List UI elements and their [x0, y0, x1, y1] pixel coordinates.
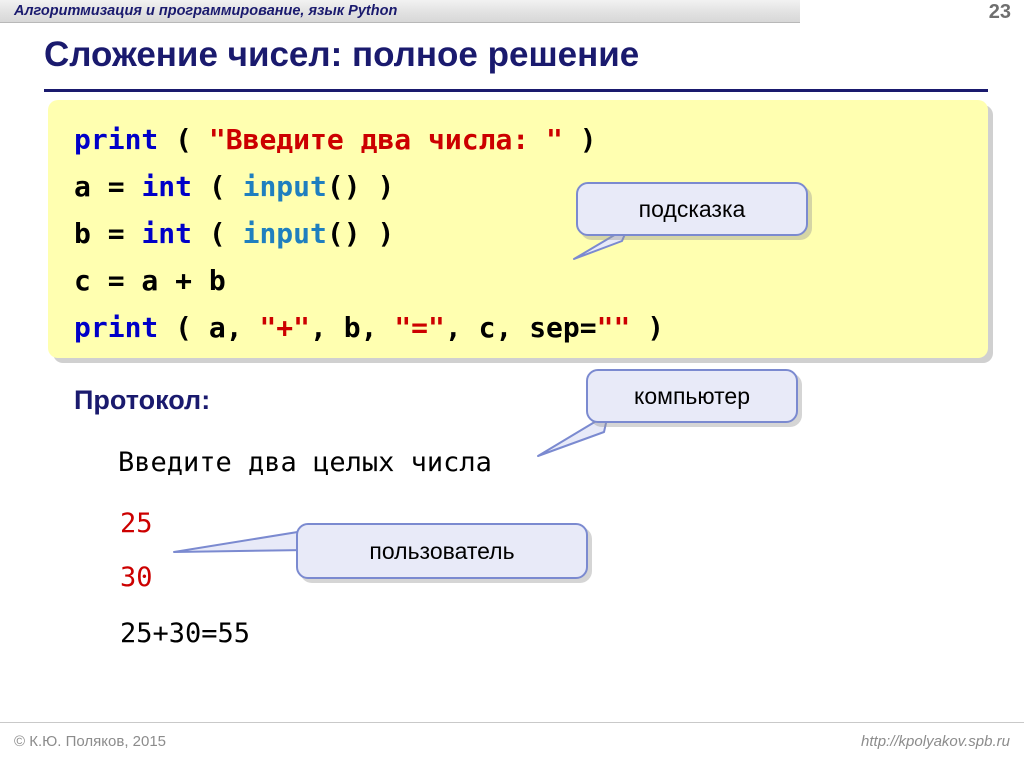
code-token: a = — [74, 170, 141, 203]
footer-copyright: © К.Ю. Поляков, 2015 — [14, 733, 166, 750]
code-token: print — [74, 311, 158, 344]
code-token: "=" — [394, 311, 445, 344]
header-title: Алгоритмизация и программирование, язык … — [14, 3, 397, 19]
footer-url[interactable]: http://kpolyakov.spb.ru — [861, 733, 1010, 750]
code-token: "Введите два числа: " — [209, 123, 563, 156]
code-line: print ( "Введите два числа: " ) — [74, 116, 664, 163]
protocol-result-line: 25+30=55 — [120, 618, 250, 649]
callout-computer: компьютер — [586, 369, 798, 423]
protocol-computer-line: Введите два целых числа — [118, 447, 492, 478]
code-token: int — [141, 217, 192, 250]
code-token: int — [141, 170, 192, 203]
page-title: Сложение чисел: полное решение — [44, 35, 639, 75]
code-token: ( a, — [158, 311, 259, 344]
code-token: "" — [597, 311, 631, 344]
code-token: ) — [563, 123, 597, 156]
code-token: input — [243, 170, 327, 203]
code-token: ( — [158, 123, 209, 156]
code-token: print — [74, 123, 158, 156]
code-token: ( — [192, 217, 243, 250]
code-token: , b, — [310, 311, 394, 344]
code-token: () ) — [327, 170, 394, 203]
protocol-label: Протокол: — [74, 385, 210, 416]
code-token: ( — [192, 170, 243, 203]
code-token: "+" — [259, 311, 310, 344]
code-token: input — [243, 217, 327, 250]
code-token: c = a + b — [74, 264, 226, 297]
slide-number: 23 — [989, 1, 1011, 24]
protocol-user-input-1: 25 — [120, 508, 153, 539]
title-divider — [44, 89, 988, 92]
code-token: () ) — [327, 217, 394, 250]
footer-divider — [0, 722, 1024, 723]
code-token: , c, sep= — [445, 311, 597, 344]
code-token: b = — [74, 217, 141, 250]
protocol-user-input-2: 30 — [120, 562, 153, 593]
callout-user: пользователь — [296, 523, 588, 579]
slide: Алгоритмизация и программирование, язык … — [0, 0, 1024, 767]
callout-hint: подсказка — [576, 182, 808, 236]
code-token: ) — [630, 311, 664, 344]
code-line: print ( a, "+", b, "=", c, sep="" ) — [74, 304, 664, 351]
